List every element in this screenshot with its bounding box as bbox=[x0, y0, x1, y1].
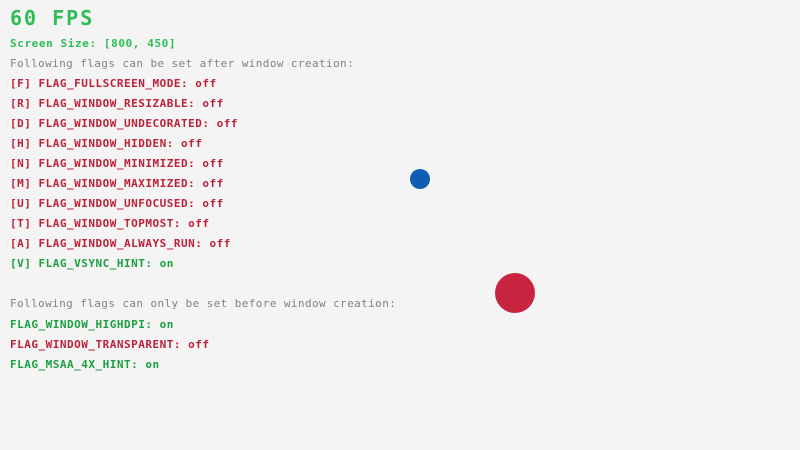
runtime-flags-heading: Following flags can be set after window … bbox=[10, 58, 354, 69]
flag-key: [U] bbox=[10, 197, 39, 210]
flag-line[interactable]: [M] FLAG_WINDOW_MAXIMIZED: off bbox=[10, 178, 224, 189]
flag-value: off bbox=[188, 338, 209, 351]
flag-name: FLAG_MSAA_4X_HINT: bbox=[10, 358, 145, 371]
flag-line[interactable]: [H] FLAG_WINDOW_HIDDEN: off bbox=[10, 138, 202, 149]
flag-name: FLAG_WINDOW_UNFOCUSED: bbox=[39, 197, 203, 210]
flag-name: FLAG_WINDOW_ALWAYS_RUN: bbox=[39, 237, 210, 250]
creation-flags-heading: Following flags can only be set before w… bbox=[10, 298, 396, 309]
flag-line[interactable]: [R] FLAG_WINDOW_RESIZABLE: off bbox=[10, 98, 224, 109]
flag-name: FLAG_FULLSCREEN_MODE: bbox=[39, 77, 196, 90]
flag-line[interactable]: [F] FLAG_FULLSCREEN_MODE: off bbox=[10, 78, 217, 89]
flag-name: FLAG_WINDOW_TOPMOST: bbox=[39, 217, 189, 230]
flag-value: off bbox=[209, 237, 230, 250]
flag-key: [A] bbox=[10, 237, 39, 250]
flag-value: on bbox=[160, 318, 174, 331]
flag-line[interactable]: FLAG_WINDOW_TRANSPARENT: off bbox=[10, 339, 209, 350]
flag-key: [T] bbox=[10, 217, 39, 230]
raylib-window-canvas: 60 FPS Screen Size: [800, 450] Following… bbox=[0, 0, 800, 450]
flag-name: FLAG_WINDOW_UNDECORATED: bbox=[39, 117, 217, 130]
flag-key: [R] bbox=[10, 97, 39, 110]
flag-name: FLAG_WINDOW_HIGHDPI: bbox=[10, 318, 160, 331]
flag-key: [N] bbox=[10, 157, 39, 170]
screen-size-label: Screen Size: [800, 450] bbox=[10, 38, 176, 49]
flag-name: FLAG_WINDOW_TRANSPARENT: bbox=[10, 338, 188, 351]
flag-value: off bbox=[202, 197, 223, 210]
flag-name: FLAG_WINDOW_MINIMIZED: bbox=[39, 157, 203, 170]
flag-value: off bbox=[217, 117, 238, 130]
flag-value: off bbox=[188, 217, 209, 230]
flag-line[interactable]: [T] FLAG_WINDOW_TOPMOST: off bbox=[10, 218, 209, 229]
flag-key: [H] bbox=[10, 137, 39, 150]
ball-red-circle bbox=[495, 273, 535, 313]
flag-name: FLAG_VSYNC_HINT: bbox=[39, 257, 160, 270]
flag-name: FLAG_WINDOW_HIDDEN: bbox=[39, 137, 181, 150]
flag-key: [D] bbox=[10, 117, 39, 130]
flag-line[interactable]: [N] FLAG_WINDOW_MINIMIZED: off bbox=[10, 158, 224, 169]
flag-key: [F] bbox=[10, 77, 39, 90]
flag-value: off bbox=[195, 77, 216, 90]
flag-line[interactable]: [D] FLAG_WINDOW_UNDECORATED: off bbox=[10, 118, 238, 129]
flag-value: on bbox=[160, 257, 174, 270]
flag-value: off bbox=[181, 137, 202, 150]
flag-value: on bbox=[145, 358, 159, 371]
flag-name: FLAG_WINDOW_MAXIMIZED: bbox=[39, 177, 203, 190]
flag-value: off bbox=[202, 97, 223, 110]
flag-line[interactable]: [A] FLAG_WINDOW_ALWAYS_RUN: off bbox=[10, 238, 231, 249]
flag-value: off bbox=[202, 157, 223, 170]
flag-key: [M] bbox=[10, 177, 39, 190]
fps-counter: 60 FPS bbox=[10, 8, 94, 28]
flag-line[interactable]: [U] FLAG_WINDOW_UNFOCUSED: off bbox=[10, 198, 224, 209]
flag-line[interactable]: FLAG_MSAA_4X_HINT: on bbox=[10, 359, 160, 370]
flag-line[interactable]: [V] FLAG_VSYNC_HINT: on bbox=[10, 258, 174, 269]
ball-blue-circle bbox=[410, 169, 430, 189]
flag-name: FLAG_WINDOW_RESIZABLE: bbox=[39, 97, 203, 110]
flag-key: [V] bbox=[10, 257, 39, 270]
flag-line[interactable]: FLAG_WINDOW_HIGHDPI: on bbox=[10, 319, 174, 330]
flag-value: off bbox=[202, 177, 223, 190]
